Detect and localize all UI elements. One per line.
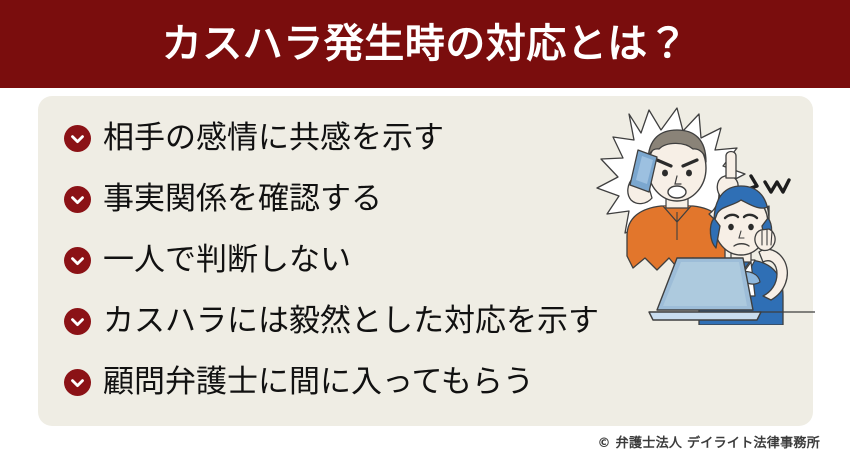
check-circle-icon — [64, 369, 91, 396]
header-bar: カスハラ発生時の対応とは？ — [0, 0, 850, 88]
checklist: 相手の感情に共感を示す 事実関係を確認する 一人で判断しない — [64, 108, 624, 413]
list-item: 顧問弁護士に間に入ってもらう — [64, 352, 624, 413]
list-item-label: 相手の感情に共感を示す — [103, 123, 444, 154]
list-item: 相手の感情に共感を示す — [64, 108, 624, 169]
list-item: 一人で判断しない — [64, 230, 624, 291]
angry-caller-and-stressed-operator-illustration — [565, 100, 815, 325]
page-title: カスハラ発生時の対応とは？ — [162, 24, 689, 64]
check-circle-icon — [64, 186, 91, 213]
check-circle-icon — [64, 247, 91, 274]
list-item-label: 一人で判断しない — [103, 245, 351, 276]
check-circle-icon — [64, 308, 91, 335]
list-item-label: 事実関係を確認する — [103, 184, 382, 215]
list-item-label: カスハラには毅然とした対応を示す — [103, 306, 599, 337]
check-circle-icon — [64, 125, 91, 152]
footer-credit: © 弁護士法人 デイライト法律事務所 — [598, 432, 820, 451]
infographic-root: カスハラ発生時の対応とは？ 相手の感情に共感を示す 事実関係を確認する — [0, 0, 850, 465]
list-item-label: 顧問弁護士に間に入ってもらう — [103, 367, 534, 398]
list-item: カスハラには毅然とした対応を示す — [64, 291, 624, 352]
list-item: 事実関係を確認する — [64, 169, 624, 230]
